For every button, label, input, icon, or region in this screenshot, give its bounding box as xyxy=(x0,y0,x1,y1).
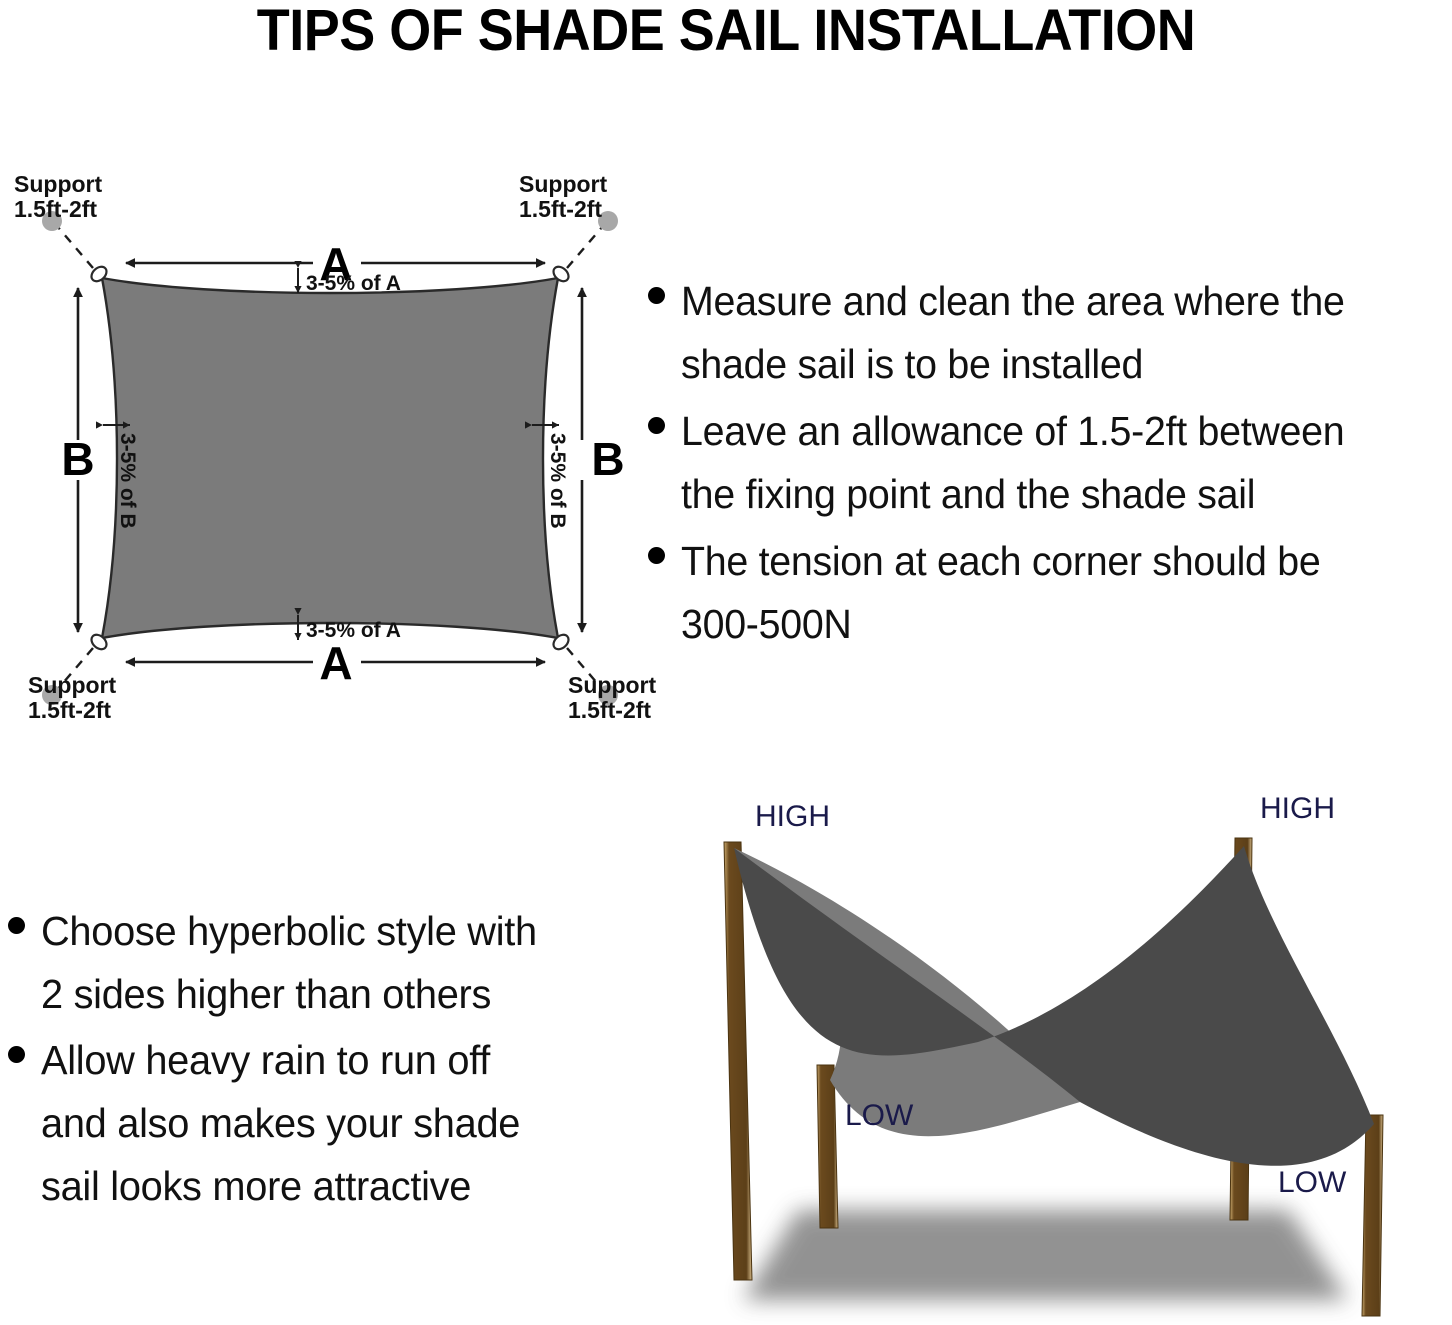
page-title: TIPS OF SHADE SAIL INSTALLATION xyxy=(51,0,1401,62)
label-high-left: HIGH xyxy=(755,800,830,833)
dimension-a-bottom-label: A xyxy=(319,637,352,689)
support-label-top-right: Support xyxy=(519,171,607,197)
label-low-right: LOW xyxy=(1278,1166,1347,1199)
sail-shape xyxy=(102,278,558,638)
support-label-bottom-right: Support xyxy=(568,672,656,698)
support-label-top-left: Support xyxy=(14,171,102,197)
tip-text: The tension at each corner should be 300… xyxy=(681,530,1321,656)
hyperbolic-style-tips-list: Choose hyperbolic style with 2 sides hig… xyxy=(8,900,638,1221)
list-item: The tension at each corner should be 300… xyxy=(648,530,1452,656)
callout-right-b-label: 3-5% of B xyxy=(546,433,569,529)
post-low-right xyxy=(1362,1115,1383,1316)
post-low-left xyxy=(817,1065,838,1228)
style-tip-text: Allow heavy rain to run off and also mak… xyxy=(41,1029,520,1218)
rectangular-sail-diagram: Support 1.5ft-2ft Support 1.5ft-2ft Supp… xyxy=(0,160,660,740)
support-label-bottom-left-value: 1.5ft-2ft xyxy=(28,697,111,723)
style-tip-text: Choose hyperbolic style with 2 sides hig… xyxy=(41,900,537,1026)
support-label-top-left-value: 1.5ft-2ft xyxy=(14,196,97,222)
support-label-bottom-left: Support xyxy=(28,672,116,698)
callout-left-b-label: 3-5% of B xyxy=(116,433,139,529)
dimension-b-right-label: B xyxy=(591,433,624,485)
list-item: Measure and clean the area where the sha… xyxy=(648,270,1452,396)
installation-tips-list: Measure and clean the area where the sha… xyxy=(648,270,1452,660)
list-item: Leave an allowance of 1.5-2ft between th… xyxy=(648,400,1452,526)
bullet-dot-icon xyxy=(648,417,665,434)
hyperbolic-sail-illustration: HIGH HIGH LOW LOW xyxy=(648,780,1452,1325)
bullet-dot-icon xyxy=(8,1046,25,1063)
support-label-top-right-value: 1.5ft-2ft xyxy=(519,196,602,222)
list-item: Allow heavy rain to run off and also mak… xyxy=(8,1029,638,1218)
dimension-b-left-label: B xyxy=(61,433,94,485)
callout-bottom-a-label: 3-5% of A xyxy=(306,619,401,642)
infographic-page: TIPS OF SHADE SAIL INSTALLATION xyxy=(0,0,1452,1325)
callout-top-a-label: 3-5% of A xyxy=(306,272,401,295)
post-high-left xyxy=(724,842,752,1280)
list-item: Choose hyperbolic style with 2 sides hig… xyxy=(8,900,638,1026)
bullet-dot-icon xyxy=(8,917,25,934)
bullet-dot-icon xyxy=(648,287,665,304)
tip-text: Leave an allowance of 1.5-2ft between th… xyxy=(681,400,1344,526)
tip-text: Measure and clean the area where the sha… xyxy=(681,270,1345,396)
support-label-bottom-right-value: 1.5ft-2ft xyxy=(568,697,651,723)
label-high-right: HIGH xyxy=(1260,792,1335,825)
bullet-dot-icon xyxy=(648,547,665,564)
label-low-left: LOW xyxy=(845,1099,914,1132)
